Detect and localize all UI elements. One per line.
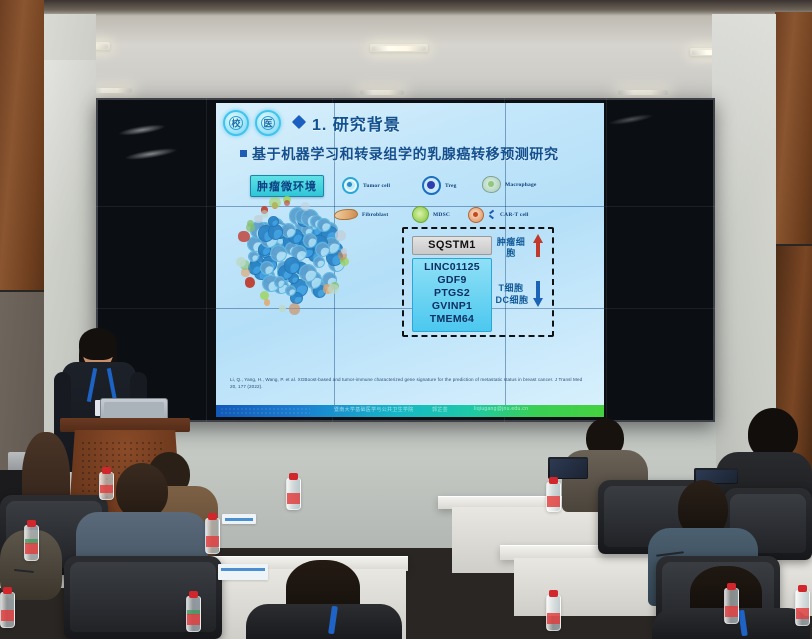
bottle-label-9 [796,608,809,619]
bottle-label-10 [1,610,14,621]
water-bottle-3 [99,472,114,500]
mdsc-icon [412,206,429,223]
legend-label-treg: Treg [445,183,457,189]
bottle-cap-9 [798,585,807,592]
legend-item-mdsc: MDSC [412,206,450,223]
bottle-cap-4 [289,473,298,480]
bottle-cap-7 [549,590,558,597]
signature-gene-box: LINC01125 GDF9 PTGS2 GVINP1 TMEM64 [412,258,492,332]
tumor-microenvironment-label: 肿瘤微环境 [250,175,324,197]
bottle-cap-6 [549,477,558,484]
footer-dot-pattern [220,407,310,415]
macrophage-icon [482,176,501,193]
car-receptor-icon [488,209,496,221]
footer-presenter: 郭芷芸 [432,406,448,413]
legend-label-car-t-cell: CAR-T cell [500,212,529,218]
downlight-5 [360,90,404,95]
car-t-cell-icon [468,207,484,223]
led-seam-v4 [606,98,607,422]
diamond-bullet-icon [292,115,306,129]
bottle-cap-10 [3,587,12,594]
hub-gene-box: SQSTM1 [412,236,492,255]
down-arrow-shaft [536,281,540,299]
gene-gdf9: GDF9 [413,274,491,287]
emblem-left-glyph: 校 [231,117,240,130]
wall-sheen-right [712,14,776,314]
water-bottle-9 [795,590,810,626]
tumor-cluster-illustration [238,203,348,308]
emblem-right-glyph: 医 [263,117,272,130]
water-bottle-10 [0,592,15,628]
ceiling-shadow [0,0,812,16]
wood-panel-left [0,0,44,290]
hospital-emblem-icon: 医 [255,110,281,136]
down-arrow-icon [533,298,543,307]
up-arrow-shaft [536,241,540,257]
gene-gvinp1: GVINP1 [413,300,491,313]
tumor-cell-up-label: 肿瘤细胞 [494,237,528,259]
bottle-label-7 [547,613,560,624]
water-bottle-4 [286,478,301,510]
slide-footer-bar: 暨南大学基础医学与公共卫生学院 郭芷芸 liqiugang@jnu.edu.cn [216,405,604,417]
led-video-wall: 校 医 1. 研究背景 基于机器学习和转录组学的乳腺癌转移预测研究 肿瘤微环境 … [96,98,715,422]
water-bottle-5 [186,596,201,632]
university-emblem-icon: 校 [223,110,249,136]
bottle-label-2 [206,536,219,547]
handout-paper-1 [218,564,268,580]
legend-label-mdsc: MDSC [433,212,450,218]
bottle-label-1 [25,543,38,554]
bottle-cap-8 [727,583,736,590]
gene-linc01125: LINC01125 [413,261,491,274]
legend-item-tumor-cell: Tumor cell [342,177,390,194]
legend-item-treg: Treg [422,176,457,195]
bottle-label-4 [287,493,300,504]
legend-item-car-t-cell: CAR-T cell [468,207,529,223]
bottle-cap-5 [189,591,198,598]
legend-label-macrophage: Macrophage [505,182,537,188]
up-arrow-icon [533,234,543,243]
dc-cell-down-label: DC细胞 [492,295,532,306]
bottle-cap-3 [102,467,111,474]
bottle-label-6 [547,496,560,507]
slide-citation: Li, Q., Yang, H., Wang, P. et al. XGBoos… [230,377,590,390]
gene-tmem64: TMEM64 [413,313,491,326]
bottle-label-8 [725,606,738,617]
slide-section-title: 1. 研究背景 [312,111,401,135]
attendee-lanyard-torso [246,604,402,639]
bottle-cap-1 [27,520,36,527]
downlight-4 [90,88,132,93]
footer-institution: 暨南大学基础医学与公共卫生学院 [334,406,414,413]
treg-cell-icon [422,176,441,195]
gene-ptgs2: PTGS2 [413,287,491,300]
slide-subtitle: 基于机器学习和转录组学的乳腺癌转移预测研究 [252,144,559,164]
water-bottle-6 [546,482,561,512]
led-seam-v1 [206,98,207,422]
t-cell-down-label: T细胞 [494,283,528,294]
presenter-hair-top [79,328,117,360]
bottle-label-5 [187,614,200,625]
wood-panel-right-upper [775,12,812,244]
bottle-label-3 [100,485,113,493]
footer-email: liqiugang@jnu.edu.cn [474,406,528,412]
water-bottle-2 [205,518,220,554]
legend-label-tumor-cell: Tumor cell [363,183,390,189]
legend-item-macrophage: Macrophage [482,176,537,193]
laptop-back-center [548,457,588,479]
bottle-cap-2 [208,513,217,520]
presentation-slide: 校 医 1. 研究背景 基于机器学习和转录组学的乳腺癌转移预测研究 肿瘤微环境 … [216,103,604,417]
podium-top [60,418,190,432]
handout-paper-2 [222,514,256,524]
water-bottle-1 [24,525,39,561]
square-bullet-icon [240,150,247,157]
tumor-cell-icon [342,177,359,194]
water-bottle-7 [546,595,561,631]
downlight-2 [372,46,426,51]
attendee-blue-hoodie-head [116,463,168,519]
legend-label-fibroblast: Fibroblast [362,212,388,218]
lecture-hall-photo: 校 医 1. 研究背景 基于机器学习和转录组学的乳腺癌转移预测研究 肿瘤微环境 … [0,0,812,639]
water-bottle-8 [724,588,739,624]
downlight-6 [618,90,668,95]
wall-sheen-left [44,60,96,320]
